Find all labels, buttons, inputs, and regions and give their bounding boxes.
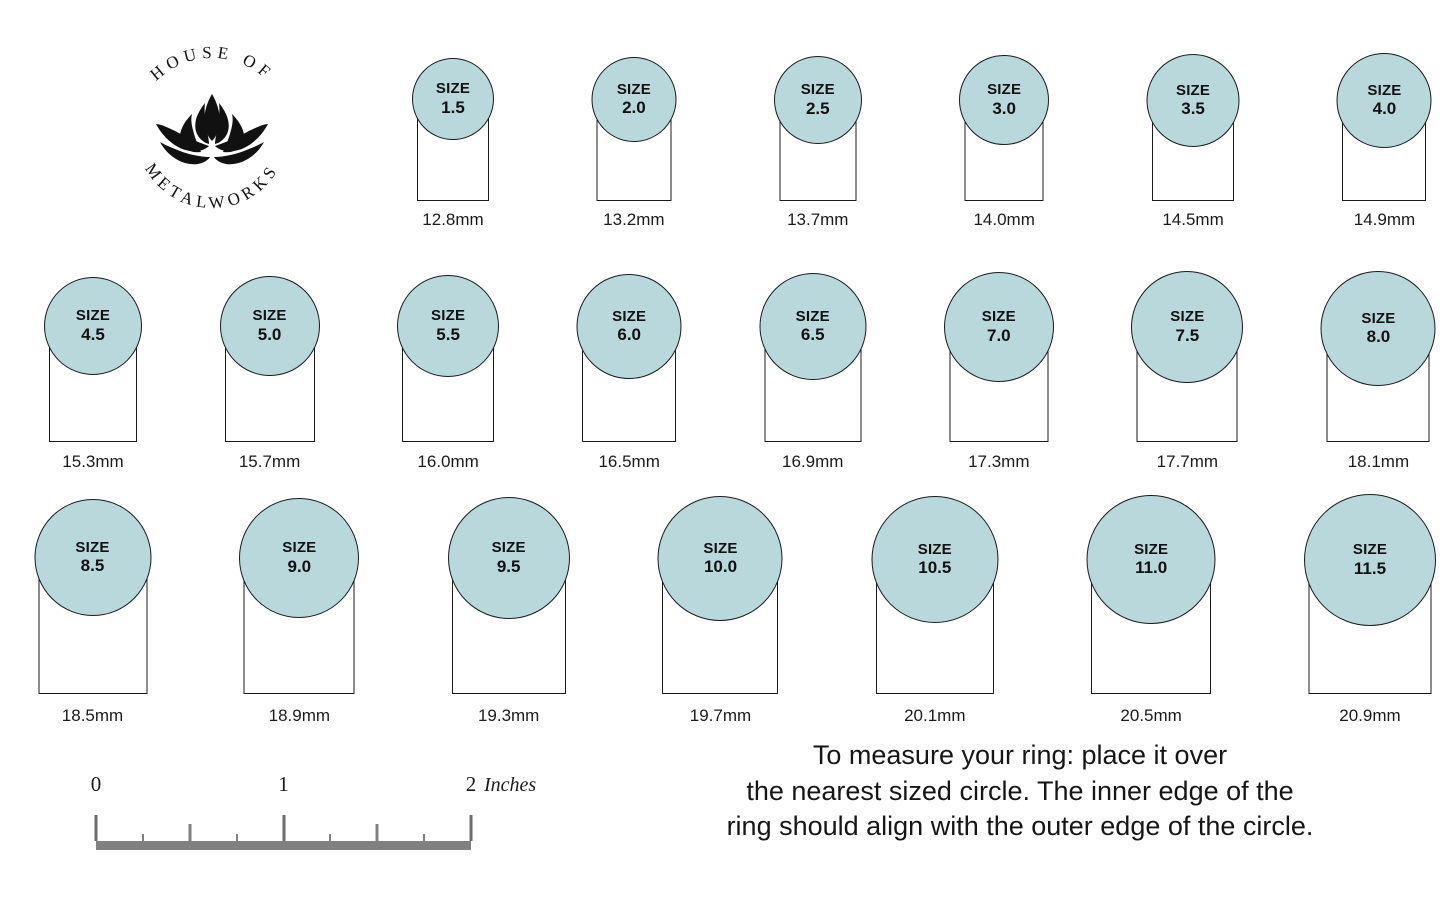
ring-size-circle[interactable]: SIZE6.0 [577,274,682,379]
diameter-mm-label: 14.5mm [1162,210,1223,230]
ring-size-glyph: SIZE6.5 [759,243,866,442]
diameter-mm-label: 13.2mm [603,210,664,230]
size-word-label: SIZE [1176,82,1210,100]
size-word-label: SIZE [252,307,286,325]
diameter-mm-label: 20.9mm [1339,706,1400,726]
ring-size-unit[interactable]: SIZE8.018.1mm [1321,243,1436,472]
ring-size-circle[interactable]: SIZE7.0 [944,272,1054,382]
ring-size-glyph: SIZE10.5 [871,462,998,694]
ruler-tick [423,834,425,841]
size-word-label: SIZE [1134,541,1168,559]
size-value-label: 2.5 [806,99,830,119]
ring-size-circle[interactable]: SIZE7.5 [1131,271,1243,383]
size-value-label: 7.0 [987,326,1011,346]
diameter-mm-label: 13.7mm [787,210,848,230]
size-word-label: SIZE [436,80,470,98]
size-value-label: 9.0 [288,557,312,577]
size-value-label: 10.0 [704,557,737,577]
size-value-label: 3.0 [992,99,1016,119]
size-value-label: 5.0 [258,325,282,345]
ruler-number-0: 0 [91,772,102,797]
ring-size-glyph: SIZE3.5 [1147,30,1240,201]
ring-size-circle[interactable]: SIZE1.5 [412,58,494,140]
size-row-2: SIZE4.515.3mmSIZE5.015.7mmSIZE5.516.0mmS… [44,243,1436,472]
size-value-label: 10.5 [918,558,951,578]
diameter-mm-label: 20.1mm [904,706,965,726]
ring-size-unit[interactable]: SIZE10.520.1mm [871,462,998,726]
ruler-tick [376,824,379,841]
ring-size-glyph: SIZE8.0 [1321,243,1436,442]
size-value-label: 7.5 [1176,326,1200,346]
ring-size-circle[interactable]: SIZE10.0 [658,496,783,621]
size-row-1: SIZE1.512.8mmSIZE2.013.2mmSIZE2.513.7mmS… [412,30,1432,230]
ring-size-glyph: SIZE1.5 [412,30,494,201]
ring-size-circle[interactable]: SIZE5.0 [220,276,320,376]
instruction-line-1: To measure your ring: place it over [640,738,1400,774]
size-word-label: SIZE [1361,310,1395,328]
measurement-instructions: To measure your ring: place it over the … [640,738,1400,845]
size-word-label: SIZE [617,81,651,99]
ring-size-unit[interactable]: SIZE5.015.7mm [220,243,320,472]
ring-size-glyph: SIZE4.0 [1337,30,1432,201]
size-value-label: 2.0 [622,98,646,118]
size-word-label: SIZE [76,307,110,325]
ring-size-unit[interactable]: SIZE4.515.3mm [44,243,142,472]
ring-size-circle[interactable]: SIZE10.5 [871,496,998,623]
ring-size-glyph: SIZE7.5 [1131,243,1243,442]
ruler-tick [329,834,331,841]
size-value-label: 4.5 [81,325,105,345]
size-value-label: 5.5 [436,325,460,345]
ring-size-unit[interactable]: SIZE11.520.9mm [1304,462,1436,726]
ruler-number-2: 2 [466,772,477,797]
size-word-label: SIZE [282,539,316,557]
ring-size-circle[interactable]: SIZE5.5 [397,275,499,377]
size-value-label: 9.5 [497,557,521,577]
ruler-number-labels: 012 [96,772,471,800]
ring-size-circle[interactable]: SIZE9.0 [239,498,359,618]
ruler-tick [282,815,285,841]
ring-size-unit[interactable]: SIZE8.518.5mm [34,462,151,726]
ring-size-unit[interactable]: SIZE6.516.9mm [759,243,866,472]
size-word-label: SIZE [918,541,952,559]
size-value-label: 6.5 [801,325,825,345]
size-word-label: SIZE [987,81,1021,99]
ring-size-unit[interactable]: SIZE7.017.3mm [944,243,1054,472]
ruler-bar [96,841,471,850]
ring-size-circle[interactable]: SIZE2.5 [774,56,862,144]
size-word-label: SIZE [75,539,109,557]
ring-size-glyph: SIZE9.5 [448,462,570,694]
ring-size-unit[interactable]: SIZE2.513.7mm [774,30,862,230]
diameter-mm-label: 18.5mm [62,706,123,726]
ring-size-circle[interactable]: SIZE8.5 [34,499,151,616]
ring-size-glyph: SIZE2.5 [774,30,862,201]
diameter-mm-label: 12.8mm [422,210,483,230]
size-value-label: 1.5 [441,98,465,118]
instruction-line-3: ring should align with the outer edge of… [640,809,1400,845]
ring-size-glyph: SIZE2.0 [591,30,676,201]
brand-logo: HOUSE OF METALWORKS [112,36,312,216]
ring-size-circle[interactable]: SIZE8.0 [1321,271,1436,386]
ring-size-glyph: SIZE3.0 [959,30,1049,201]
ruler-body [96,802,471,864]
diameter-mm-label: 18.9mm [269,706,330,726]
size-word-label: SIZE [796,308,830,326]
size-word-label: SIZE [492,539,526,557]
ruler-tick [95,815,98,841]
ring-size-unit[interactable]: SIZE5.516.0mm [397,243,499,472]
ruler-tick [470,815,473,841]
ring-size-glyph: SIZE5.5 [397,243,499,442]
diameter-mm-label: 20.5mm [1120,706,1181,726]
ruler-tick [142,834,144,841]
ring-size-unit[interactable]: SIZE3.514.5mm [1147,30,1240,230]
ring-size-glyph: SIZE9.0 [239,462,359,694]
diameter-mm-label: 14.9mm [1354,210,1415,230]
size-value-label: 8.0 [1367,327,1391,347]
ring-size-glyph: SIZE11.0 [1087,462,1216,694]
size-value-label: 3.5 [1181,99,1205,119]
ring-size-circle[interactable]: SIZE4.5 [44,277,142,375]
size-word-label: SIZE [801,81,835,99]
svg-text:METALWORKS: METALWORKS [141,160,282,213]
inches-ruler: 012 Inches [96,772,516,862]
ring-size-circle[interactable]: SIZE6.5 [759,273,866,380]
ring-size-unit[interactable]: SIZE1.512.8mm [412,30,494,230]
ring-size-glyph: SIZE10.0 [658,462,783,694]
size-value-label: 8.5 [81,556,105,576]
ring-size-circle[interactable]: SIZE2.0 [591,57,676,142]
ring-size-unit[interactable]: SIZE7.517.7mm [1131,243,1243,472]
svg-text:HOUSE OF: HOUSE OF [146,43,277,84]
ring-size-circle[interactable]: SIZE3.0 [959,55,1049,145]
ring-size-glyph: SIZE11.5 [1304,462,1436,694]
ruler-tick [188,824,191,841]
instruction-line-2: the nearest sized circle. The inner edge… [640,774,1400,810]
ring-size-circle[interactable]: SIZE11.5 [1304,494,1436,626]
size-word-label: SIZE [1170,308,1204,326]
ring-size-glyph: SIZE8.5 [34,462,151,694]
size-word-label: SIZE [612,308,646,326]
ring-size-chart-page: HOUSE OF METALWORKS [0,0,1445,903]
size-word-label: SIZE [1353,541,1387,559]
ring-size-glyph: SIZE7.0 [944,243,1054,442]
diameter-mm-label: 19.3mm [478,706,539,726]
size-word-label: SIZE [1367,82,1401,100]
ring-size-unit[interactable]: SIZE3.014.0mm [959,30,1049,230]
size-word-label: SIZE [703,540,737,558]
ring-size-glyph: SIZE6.0 [577,243,682,442]
ring-size-glyph: SIZE4.5 [44,243,142,442]
ring-size-unit[interactable]: SIZE6.016.5mm [577,243,682,472]
size-value-label: 11.5 [1354,559,1386,579]
ring-size-glyph: SIZE5.0 [220,243,320,442]
size-value-label: 11.0 [1135,558,1167,578]
ruler-unit-label: Inches [484,774,536,797]
size-row-3: SIZE8.518.5mmSIZE9.018.9mmSIZE9.519.3mmS… [34,462,1436,726]
ruler-number-1: 1 [278,772,289,797]
ring-size-unit[interactable]: SIZE9.519.3mm [448,462,570,726]
ring-size-unit[interactable]: SIZE10.019.7mm [658,462,783,726]
ring-size-circle[interactable]: SIZE3.5 [1147,54,1240,147]
ring-size-unit[interactable]: SIZE9.018.9mm [239,462,359,726]
diameter-mm-label: 19.7mm [690,706,751,726]
size-word-label: SIZE [431,307,465,325]
diameter-mm-label: 14.0mm [973,210,1034,230]
ring-size-circle[interactable]: SIZE4.0 [1337,53,1432,148]
size-word-label: SIZE [982,308,1016,326]
ruler-tick [236,834,238,841]
ring-size-circle[interactable]: SIZE9.5 [448,497,570,619]
size-value-label: 4.0 [1373,99,1397,119]
ring-size-unit[interactable]: SIZE4.014.9mm [1337,30,1432,230]
size-value-label: 6.0 [617,325,641,345]
ring-size-unit[interactable]: SIZE11.020.5mm [1087,462,1216,726]
ring-size-unit[interactable]: SIZE2.013.2mm [591,30,676,230]
ring-size-circle[interactable]: SIZE11.0 [1087,495,1216,624]
